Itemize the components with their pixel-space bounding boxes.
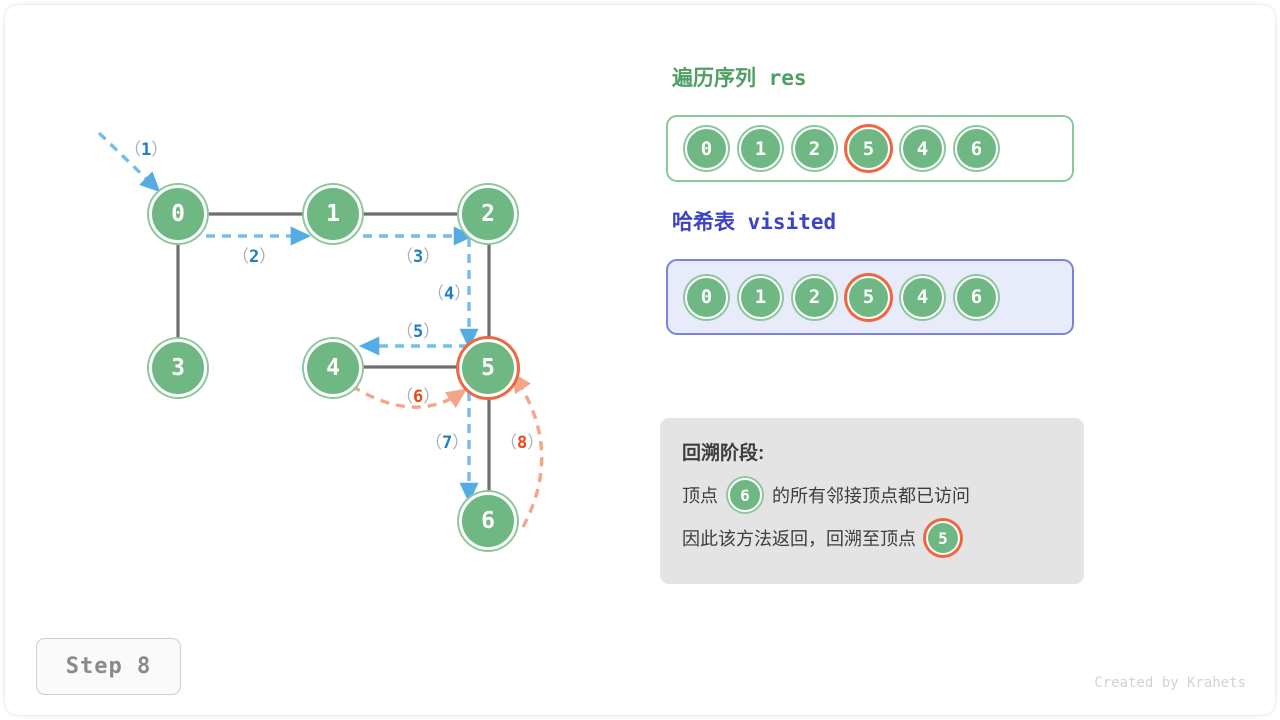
visited-cell-5-label: 6 xyxy=(971,286,982,308)
visited-cell-2-label: 2 xyxy=(809,286,820,308)
explanation-line-1: 顶点 6 的所有邻接顶点都已访问 xyxy=(682,478,1062,512)
slide-canvas: 0 1 2 3 4 5 6 （1） （2） （3） （4） （5） （6） （7… xyxy=(0,0,1280,720)
explanation-heading: 回溯阶段: xyxy=(682,438,1062,465)
arrow-label-6: （6） xyxy=(396,382,440,407)
visited-cell-4[interactable]: 4 xyxy=(901,276,944,319)
arrow-label-5-number: 5 xyxy=(413,322,423,342)
explanation-line-2: 因此该方法返回，回溯至顶点 5 xyxy=(682,521,1062,555)
arrow-label-7-number: 7 xyxy=(442,433,452,453)
graph-node-3[interactable]: 3 xyxy=(149,339,207,397)
arrow-label-2-number: 2 xyxy=(249,247,259,267)
graph-node-5[interactable]: 5 xyxy=(459,339,517,397)
visited-cell-4-label: 4 xyxy=(917,286,928,308)
visited-cell-2[interactable]: 2 xyxy=(793,276,836,319)
explanation-chip-5: 5 xyxy=(926,521,960,555)
graph-node-2[interactable]: 2 xyxy=(459,185,517,243)
res-cell-5[interactable]: 6 xyxy=(955,127,998,170)
explanation-box: 回溯阶段: 顶点 6 的所有邻接顶点都已访问 因此该方法返回，回溯至顶点 5 xyxy=(660,418,1084,584)
res-array: 0 1 2 5 4 6 xyxy=(666,115,1074,182)
visited-cell-5[interactable]: 6 xyxy=(955,276,998,319)
visited-array: 0 1 2 5 4 6 xyxy=(666,259,1074,335)
visited-cell-0-label: 0 xyxy=(701,286,712,308)
graph-node-0-label: 0 xyxy=(171,203,185,226)
arrow-label-3: （3） xyxy=(396,242,440,267)
arrow-label-7: （7） xyxy=(425,428,469,453)
arrow-label-8-number: 8 xyxy=(517,433,527,453)
explanation-line-1-suffix: 的所有邻接顶点都已访问 xyxy=(772,482,970,508)
graph-node-4[interactable]: 4 xyxy=(304,339,362,397)
graph-node-0[interactable]: 0 xyxy=(149,185,207,243)
arrow-label-2: （2） xyxy=(232,242,276,267)
visited-cell-0[interactable]: 0 xyxy=(685,276,728,319)
visited-cell-1-label: 1 xyxy=(755,286,766,308)
res-panel-title: 遍历序列 res xyxy=(672,62,807,92)
arrow-label-1: （1） xyxy=(124,135,168,160)
right-panels: 遍历序列 res 0 1 2 5 4 6 哈希表 visited 0 1 2 5… xyxy=(660,0,1280,720)
res-cell-2-label: 2 xyxy=(809,138,820,160)
explanation-chip-5-label: 5 xyxy=(938,529,948,548)
visited-cell-1[interactable]: 1 xyxy=(739,276,782,319)
graph-diagram: 0 1 2 3 4 5 6 （1） （2） （3） （4） （5） （6） （7… xyxy=(0,0,640,720)
res-cell-3-label: 5 xyxy=(863,138,874,160)
res-cell-5-label: 6 xyxy=(971,138,982,160)
arrow-label-4-number: 4 xyxy=(444,284,454,304)
explanation-chip-6-label: 6 xyxy=(740,486,750,505)
arrow-label-1-number: 1 xyxy=(141,140,151,160)
graph-node-1-label: 1 xyxy=(326,203,340,226)
visited-cell-3-label: 5 xyxy=(863,286,874,308)
graph-node-6[interactable]: 6 xyxy=(459,492,517,550)
res-cell-3[interactable]: 5 xyxy=(847,127,890,170)
visited-cell-3[interactable]: 5 xyxy=(847,276,890,319)
res-cell-0[interactable]: 0 xyxy=(685,127,728,170)
step-badge: Step 8 xyxy=(36,638,181,695)
arrow-label-4: （4） xyxy=(427,279,471,304)
res-cell-4-label: 4 xyxy=(917,138,928,160)
graph-node-1[interactable]: 1 xyxy=(304,185,362,243)
visited-panel-title: 哈希表 visited xyxy=(672,206,836,236)
graph-node-4-label: 4 xyxy=(326,357,340,380)
res-cell-1[interactable]: 1 xyxy=(739,127,782,170)
graph-node-2-label: 2 xyxy=(481,203,495,226)
arrow-label-3-number: 3 xyxy=(413,247,423,267)
graph-node-5-label: 5 xyxy=(481,357,495,380)
res-cell-0-label: 0 xyxy=(701,138,712,160)
res-cell-1-label: 1 xyxy=(755,138,766,160)
res-cell-2[interactable]: 2 xyxy=(793,127,836,170)
arrow-label-6-number: 6 xyxy=(413,387,423,407)
explanation-chip-6: 6 xyxy=(728,478,762,512)
graph-node-3-label: 3 xyxy=(171,357,185,380)
res-cell-4[interactable]: 4 xyxy=(901,127,944,170)
arrow-label-5: （5） xyxy=(396,317,440,342)
graph-node-6-label: 6 xyxy=(481,510,495,533)
credit-watermark: Created by Krahets xyxy=(1094,675,1246,691)
arrow-label-8: （8） xyxy=(500,428,544,453)
explanation-line-1-prefix: 顶点 xyxy=(682,482,718,508)
explanation-line-2-prefix: 因此该方法返回，回溯至顶点 xyxy=(682,525,916,551)
